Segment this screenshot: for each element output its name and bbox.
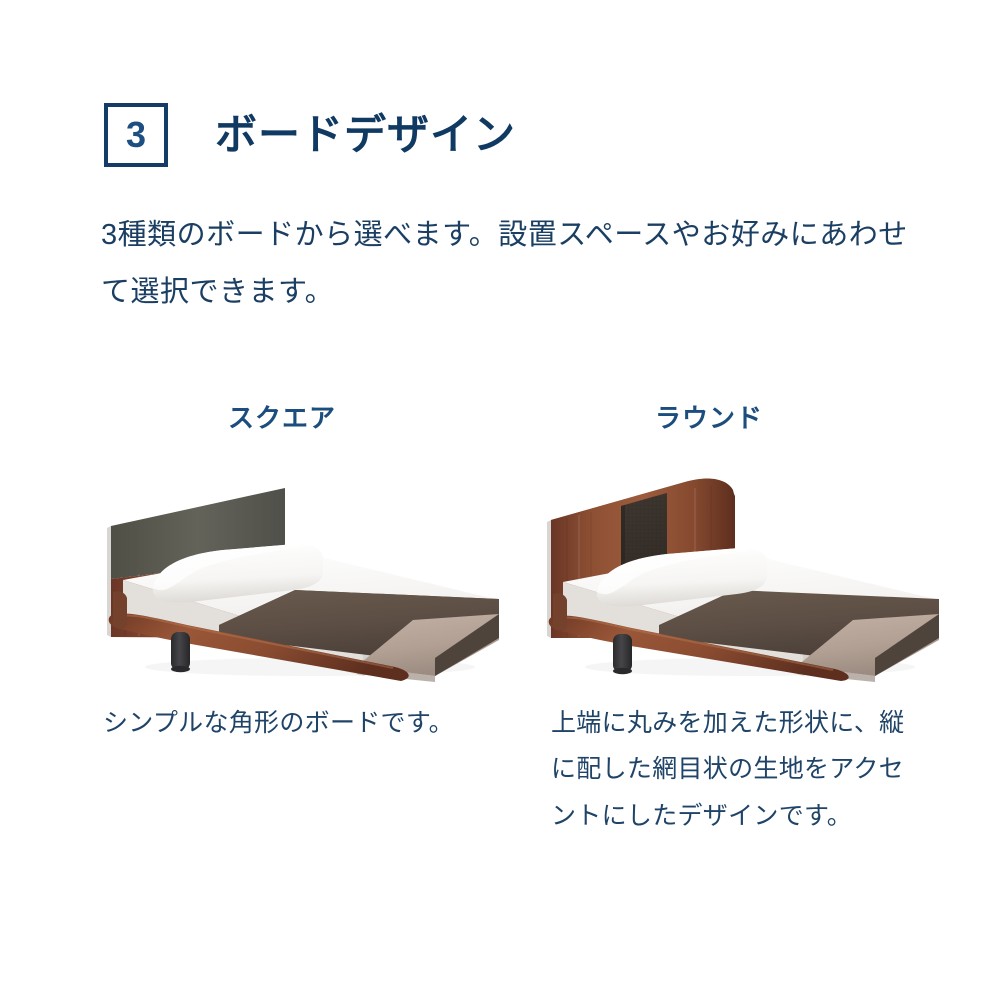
option-caption-round: 上端に丸みを加えた形状に、縦に配した網目状の生地をアクセントにしたデザインです。 [551,700,911,839]
page-title: ボードデザイン [215,114,516,156]
square-board-bed-photo [95,462,525,682]
option-label-square: スクエア [95,405,525,439]
section-heading: 3 ボードデザイン [104,103,516,167]
option-label-round: ラウンド [535,405,965,439]
bed-leg [171,632,190,672]
page-root: 3 ボードデザイン 3種類のボードから選べます。設置スペースやお好みにあわせて選… [0,0,1000,1000]
section-number-box: 3 [104,103,168,167]
round-board-bed-photo [535,462,965,682]
board-option-round: ラウンド [535,405,965,839]
section-lead-text: 3種類のボードから選べます。設置スペースやお好みにあわせて選択できます。 [101,207,931,320]
board-options-row: スクエア [0,405,1000,839]
bed-leg [613,634,632,674]
round-bed-illustration [535,462,965,682]
square-bed-illustration [95,462,525,682]
section-number: 3 [126,117,146,153]
option-caption-square: シンプルな角形のボードです。 [103,700,463,746]
board-option-square: スクエア [95,405,525,839]
